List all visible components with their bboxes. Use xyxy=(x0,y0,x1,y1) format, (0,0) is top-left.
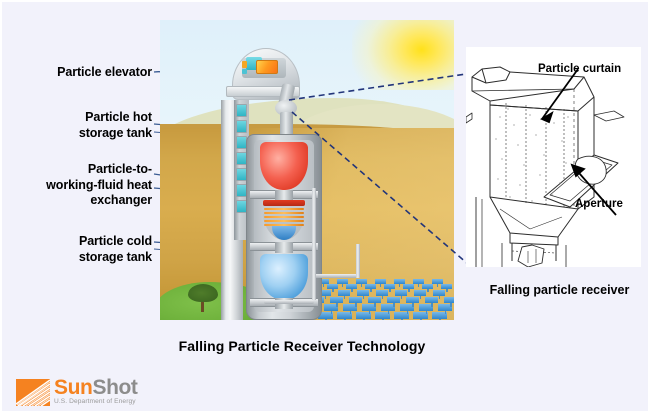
heliostat-mirror xyxy=(357,290,369,296)
heliostat-mirror xyxy=(387,297,400,303)
heliostat-mirror xyxy=(356,279,367,284)
receiver-indicator-teal xyxy=(242,69,247,74)
logo-wordmark: SunShot U.S. Department of Energy xyxy=(54,377,138,405)
heat-exchanger-coil xyxy=(264,212,304,214)
heliostat-mirror xyxy=(406,297,419,303)
heliostat-mirror xyxy=(384,284,395,289)
heliostat-mirror xyxy=(376,290,388,296)
heliostat-mirror xyxy=(422,284,433,289)
heliostat-mirror xyxy=(414,290,426,296)
sun-icon xyxy=(352,20,454,90)
outlet-pipe xyxy=(316,274,360,278)
heliostat-mirror xyxy=(337,279,348,284)
bottom-pipe xyxy=(264,300,314,304)
elevator-bucket xyxy=(236,120,247,133)
logo-word-shot: Shot xyxy=(92,376,137,399)
tree-icon xyxy=(188,284,218,302)
label-particle-curtain: Particle curtain xyxy=(538,63,621,75)
sunburst-icon xyxy=(16,379,50,406)
heliostat-mirror xyxy=(433,290,445,296)
logo-word-sun: Sun xyxy=(54,376,92,399)
heliostat-mirror xyxy=(330,297,343,303)
heliostat-mirror xyxy=(413,279,424,284)
label-particle-elevator: Particle elevator xyxy=(12,65,152,81)
heliostat-mirror xyxy=(338,290,350,296)
solar-tower-cutaway xyxy=(220,38,330,320)
heliostat-mirror xyxy=(394,279,405,284)
caption-falling-particle-receiver: Falling particle receiver xyxy=(472,283,647,297)
outlet-pipe-riser xyxy=(356,244,360,278)
label-particle-hot-storage-tank: Particle hot storage tank xyxy=(12,110,152,141)
sunshot-logo: SunShot U.S. Department of Energy xyxy=(16,377,166,409)
receiver-indicator-orange xyxy=(242,61,247,68)
return-pipe xyxy=(312,188,316,300)
receiver-line-art xyxy=(466,47,641,267)
heliostat-mirror xyxy=(444,297,454,303)
heliostat-mirror xyxy=(368,297,381,303)
heat-exchanger-coil xyxy=(264,220,304,222)
heliostat-mirror xyxy=(432,279,443,284)
heliostat-mirror xyxy=(365,284,376,289)
heat-exchanger-coil xyxy=(264,216,304,218)
heliostat-mirror xyxy=(425,297,438,303)
slide-title: Falling Particle Receiver Technology xyxy=(2,338,602,354)
center-illustration xyxy=(160,20,454,320)
label-aperture: Aperture xyxy=(575,198,623,210)
vessel-neck xyxy=(275,242,293,253)
heat-exchanger-coil xyxy=(264,208,304,210)
elevator-bucket xyxy=(236,104,247,117)
heliostat-mirror xyxy=(375,279,386,284)
receiver-hot-zone xyxy=(256,60,278,74)
label-particle-to-working-fluid-heat-exchanger: Particle-to- working-fluid heat exchange… xyxy=(7,162,152,209)
heliostat-mirror xyxy=(395,290,407,296)
heliostat-mirror xyxy=(349,297,362,303)
heliostat-mirror xyxy=(346,284,357,289)
slide-canvas: Particle elevator Particle hot storage t… xyxy=(0,0,650,413)
falling-particle-receiver-drawing xyxy=(466,47,641,267)
heliostat-mirror xyxy=(403,284,414,289)
logo-subtitle: U.S. Department of Energy xyxy=(54,398,138,405)
heat-exchanger-hot-inlet xyxy=(263,200,305,206)
label-particle-cold-storage-tank: Particle cold storage tank xyxy=(12,234,152,265)
heliostat-mirror xyxy=(441,284,452,289)
